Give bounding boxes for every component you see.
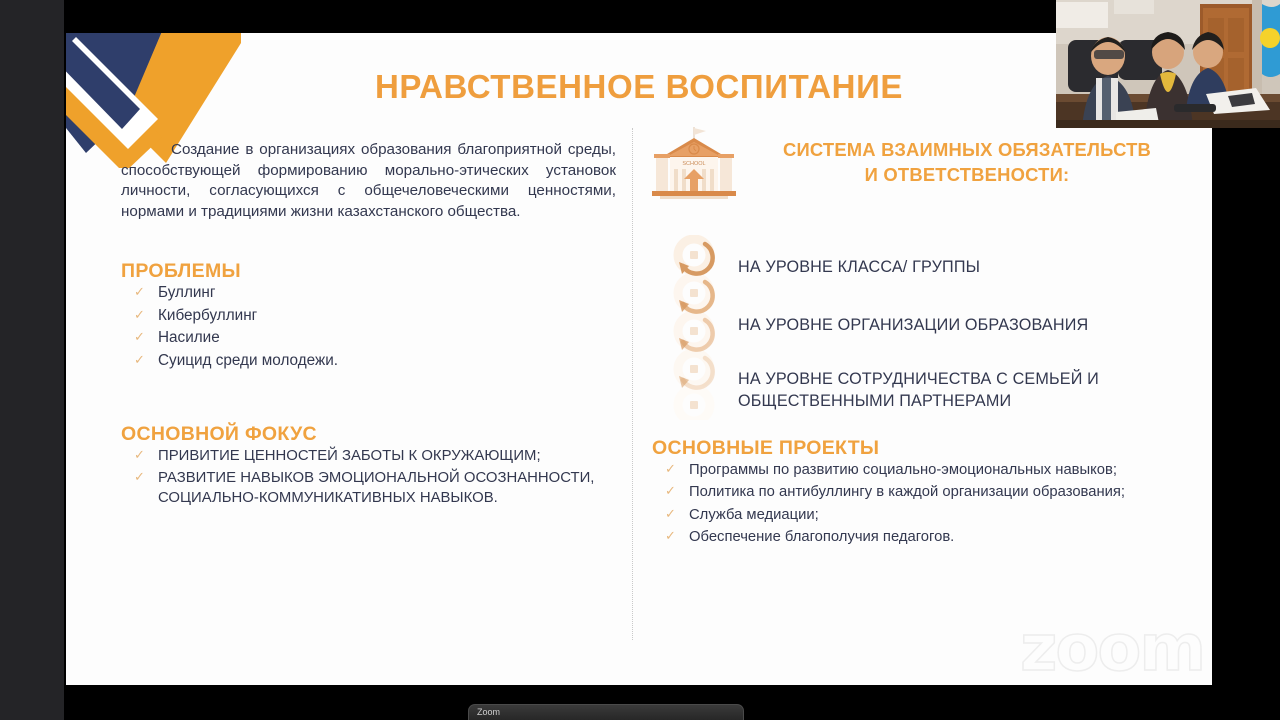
zoom-meeting-toolbar[interactable]: Zoom [468,704,744,720]
presentation-slide: НРАВСТВЕННОЕ ВОСПИТАНИЕ Создание в орган… [66,33,1212,685]
list-item-label: Кибербуллинг [158,307,257,324]
svg-text:SCHOOL: SCHOOL [682,161,705,167]
right-column: SCHOOL СИСТЕМА ВЗА [652,125,1192,550]
check-icon: ✓ [134,467,145,487]
list-item: ✓ ПРИВИТИЕ ЦЕННОСТЕЙ ЗАБОТЫ К ОКРУЖАЮЩИМ… [121,446,616,466]
check-icon: ✓ [665,504,676,524]
check-icon: ✓ [665,481,676,501]
heading-line-1: СИСТЕМА ВЗАИМНЫХ ОБЯЗАТЕЛЬСТВ [783,139,1151,160]
slide-title: НРАВСТВЕННОЕ ВОСПИТАНИЕ [66,68,1212,106]
zoom-watermark: zoom [1020,617,1204,681]
check-icon: ✓ [134,350,145,371]
check-icon: ✓ [134,305,145,326]
list-item: ✓ Насилие [121,328,616,349]
list-item: ✓ РАЗВИТИЕ НАВЫКОВ ЭМОЦИОНАЛЬНОЙ ОСОЗНАН… [121,468,616,508]
check-icon: ✓ [134,445,145,465]
check-icon: ✓ [665,526,676,546]
problems-heading: ПРОБЛЕМЫ [121,260,616,283]
heading-line-2: И ОТВЕТСТВЕНОСТИ: [865,164,1070,185]
list-item-label: Буллинг [158,284,215,301]
check-icon: ✓ [665,459,676,479]
list-item: ✓ Политика по антибуллингу в каждой орга… [652,482,1192,502]
list-item: ✓ Программы по развитию социально-эмоцио… [652,460,1192,480]
responsibility-header: SCHOOL СИСТЕМА ВЗА [652,125,1192,207]
focus-list: ✓ ПРИВИТИЕ ЦЕННОСТЕЙ ЗАБОТЫ К ОКРУЖАЮЩИМ… [121,446,616,508]
list-item: ✓ Суицид среди молодежи. [121,351,616,372]
levels-group: НА УРОВНЕ КЛАССА/ ГРУППЫ НА УРОВНЕ ОРГАН… [652,235,1192,415]
level-item: НА УРОВНЕ СОТРУДНИЧЕСТВА С СЕМЬЕЙ И ОБЩЕ… [738,369,1188,412]
check-icon: ✓ [134,282,145,303]
list-item-label: Служба медиации; [689,507,819,523]
list-item-label: ПРИВИТИЕ ЦЕННОСТЕЙ ЗАБОТЫ К ОКРУЖАЮЩИМ; [158,448,541,464]
zoom-screen-share-window: НРАВСТВЕННОЕ ВОСПИТАНИЕ Создание в орган… [0,0,1280,720]
column-divider [632,128,633,640]
projects-list: ✓ Программы по развитию социально-эмоцио… [652,460,1192,548]
intro-paragraph: Создание в организациях образования благ… [121,140,616,222]
list-item: ✓ Обеспечение благополучия педагогов. [652,527,1192,547]
list-item-label: Насилие [158,329,220,346]
check-icon: ✓ [134,327,145,348]
school-building-icon: SCHOOL [652,127,736,207]
list-item: ✓ Кибербуллинг [121,306,616,327]
list-item-label: Программы по развитию социально-эмоциона… [689,462,1117,478]
focus-heading: ОСНОВНОЙ ФОКУС [121,423,616,446]
list-item: ✓ Служба медиации; [652,505,1192,525]
responsibility-heading-text: СИСТЕМА ВЗАИМНЫХ ОБЯЗАТЕЛЬСТВ И ОТВЕТСТВ… [736,125,1192,187]
projects-heading: ОСНОВНЫЕ ПРОЕКТЫ [652,437,1192,460]
list-item-label: РАЗВИТИЕ НАВЫКОВ ЭМОЦИОНАЛЬНОЙ ОСОЗНАННО… [158,470,594,506]
list-item-label: Суицид среди молодежи. [158,352,338,369]
level-item: НА УРОВНЕ ОРГАНИЗАЦИИ ОБРАЗОВАНИЯ [738,315,1088,337]
list-item: ✓ Буллинг [121,283,616,304]
list-item-label: Политика по антибуллингу в каждой органи… [689,484,1125,500]
left-column: Создание в организациях образования благ… [121,125,616,510]
left-letterbox-gutter [0,0,64,720]
problems-list: ✓ Буллинг ✓ Кибербуллинг ✓ Насилие ✓ Суи… [121,283,616,371]
level-item: НА УРОВНЕ КЛАССА/ ГРУППЫ [738,257,980,279]
list-item-label: Обеспечение благополучия педагогов. [689,529,954,545]
circular-arrows-chain-icon [663,235,725,420]
participant-video-thumbnail[interactable] [1056,0,1280,128]
